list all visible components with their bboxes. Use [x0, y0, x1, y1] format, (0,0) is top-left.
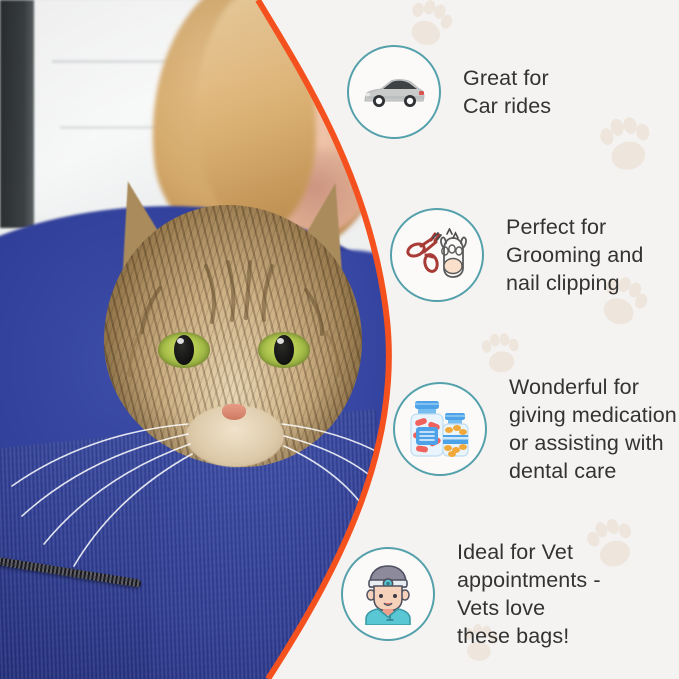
- car-icon: [361, 72, 427, 112]
- feature-label: Ideal for Vet appointments - Vets love t…: [457, 538, 601, 651]
- feature-medication: Wonderful for giving medication or assis…: [393, 373, 677, 486]
- infographic-canvas: Great for Car rides: [0, 0, 679, 679]
- feature-label: Perfect for Grooming and nail clipping: [506, 213, 643, 297]
- feature-label: Great for Car rides: [463, 64, 551, 120]
- veterinarian-icon: [356, 563, 420, 625]
- nail-clippers-paw-icon: [406, 228, 468, 282]
- pill-bottles-icon-circle: [393, 382, 487, 476]
- feature-vet-appointments: Ideal for Vet appointments - Vets love t…: [341, 538, 601, 651]
- pill-bottles-icon: [407, 399, 473, 459]
- feature-grooming: Perfect for Grooming and nail clipping: [390, 208, 643, 302]
- nail-clippers-paw-icon-circle: [390, 208, 484, 302]
- feature-car-rides: Great for Car rides: [347, 45, 551, 139]
- veterinarian-icon-circle: [341, 547, 435, 641]
- feature-label: Wonderful for giving medication or assis…: [509, 373, 677, 486]
- car-icon-circle: [347, 45, 441, 139]
